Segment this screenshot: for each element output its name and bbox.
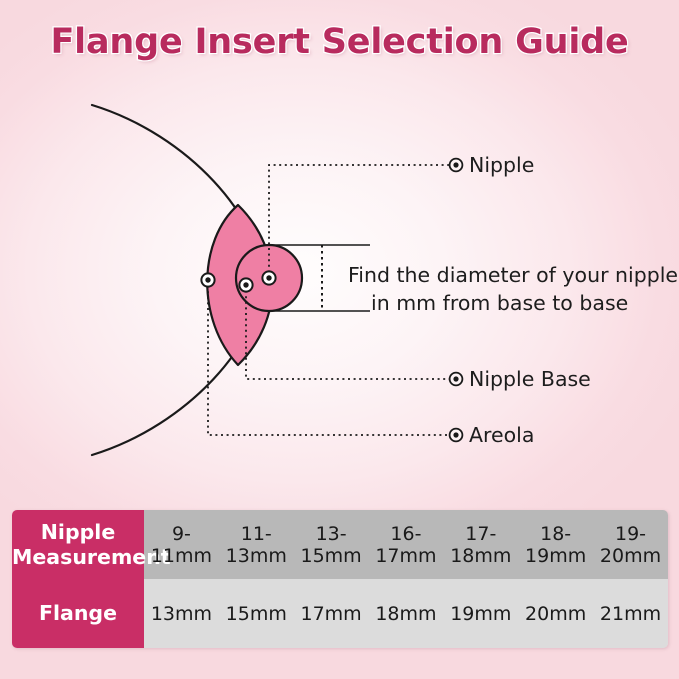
nipple-anchor-dot-icon xyxy=(262,271,275,284)
flange-cell: 19mm xyxy=(443,579,518,648)
measurement-cell: 19-20mm xyxy=(593,510,668,579)
measurement-cell: 13-15mm xyxy=(294,510,369,579)
nipple-base-label: Nipple Base xyxy=(469,367,591,391)
flange-cell: 15mm xyxy=(219,579,294,648)
table-row-flange: Flange 13mm 15mm 17mm 18mm 19mm 20mm 21m… xyxy=(12,579,668,648)
areola-anchor-dot-icon xyxy=(201,273,214,286)
measurement-cell: 18-19mm xyxy=(518,510,593,579)
nipple-label: Nipple xyxy=(469,153,534,177)
measurement-cell: 17-18mm xyxy=(443,510,518,579)
title-bar: Flange Insert Selection Guide xyxy=(0,22,679,62)
breast-anatomy-diagram: Nipple Nipple Base Areola Find the diame… xyxy=(0,80,679,480)
nipple-base-anchor-dot-icon xyxy=(239,278,252,291)
row-header-nipple-measurement: Nipple Measurement xyxy=(12,510,144,579)
areola-bullet-icon xyxy=(450,429,463,442)
flange-cell: 17mm xyxy=(294,579,369,648)
flange-cell: 13mm xyxy=(144,579,219,648)
nipple-bullet-icon xyxy=(450,159,463,172)
table-row-nipple-measurement: Nipple Measurement 9-11mm 11-13mm 13-15m… xyxy=(12,510,668,579)
instruction-line-2: in mm from base to base xyxy=(371,291,628,315)
guide-page: Flange Insert Selection Guide xyxy=(0,0,679,679)
flange-cell: 20mm xyxy=(518,579,593,648)
measurement-cell: 11-13mm xyxy=(219,510,294,579)
row-header-line-1: Nipple xyxy=(41,520,115,544)
instruction-line-1: Find the diameter of your nipple xyxy=(348,263,678,287)
flange-cell: 21mm xyxy=(593,579,668,648)
row-header-flange: Flange xyxy=(12,579,144,648)
page-title: Flange Insert Selection Guide xyxy=(50,22,628,62)
nipple-base-bullet-icon xyxy=(450,373,463,386)
measurement-cell: 16-17mm xyxy=(369,510,444,579)
flange-size-table: Nipple Measurement 9-11mm 11-13mm 13-15m… xyxy=(12,510,668,648)
row-header-line-2: Measurement xyxy=(12,545,171,569)
areola-label: Areola xyxy=(469,423,534,447)
flange-cell: 18mm xyxy=(369,579,444,648)
